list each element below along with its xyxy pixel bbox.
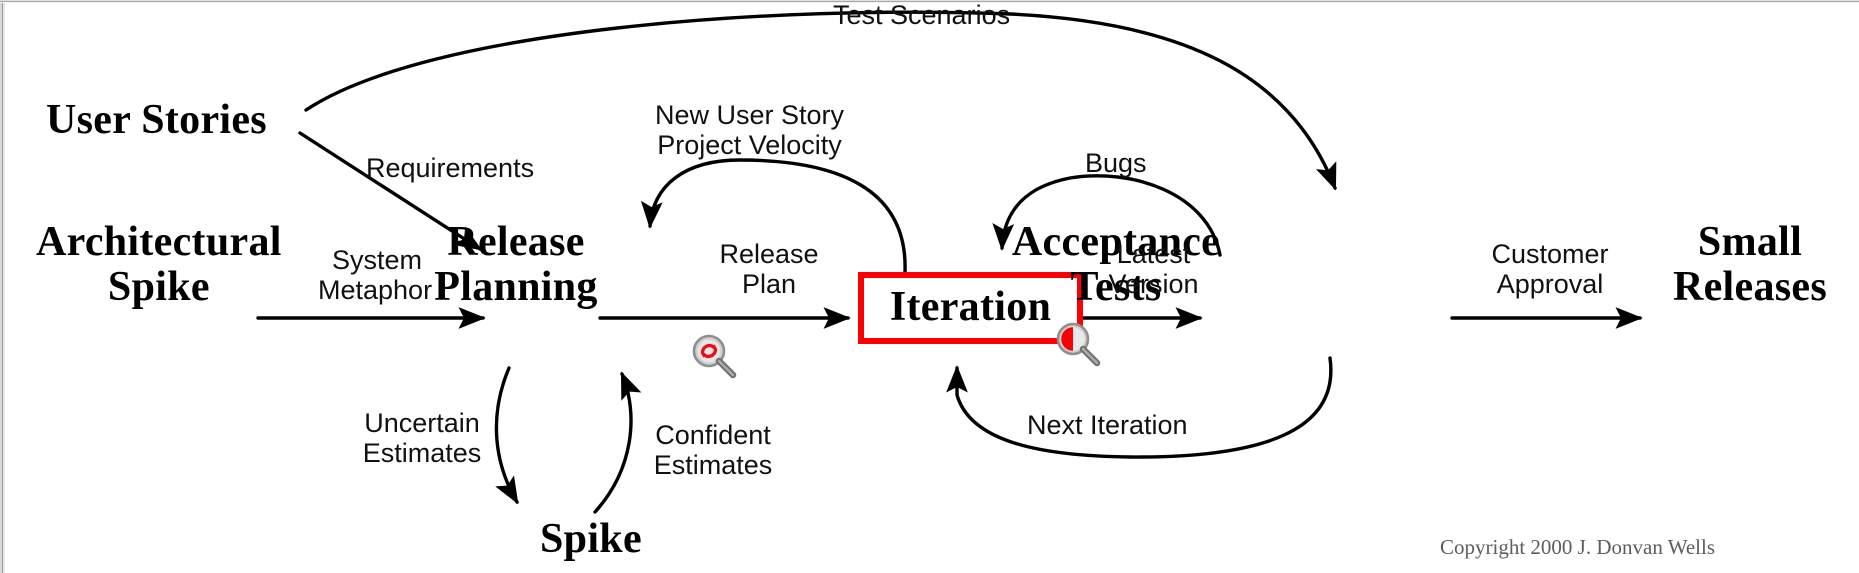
- edge-next-iteration-path: [957, 358, 1331, 457]
- node-architectural-spike: Architectural Spike: [36, 220, 282, 309]
- edge-label-customer-approval-2: Approval: [1465, 269, 1635, 299]
- edge-label-bugs: Bugs: [1085, 148, 1147, 178]
- edge-confident-estimates-path: [595, 374, 631, 512]
- edge-label-uncertain-estimates-1: Uncertain: [348, 408, 496, 438]
- edge-label-release-plan-2: Plan: [710, 269, 828, 299]
- edge-label-bugs-1: Bugs: [1085, 148, 1147, 178]
- edge-label-latest-version: Latest Version: [1092, 239, 1215, 299]
- edge-label-test-scenarios: Test Scenarios: [833, 0, 1010, 30]
- node-architectural-spike-label-1: Architectural: [36, 220, 282, 265]
- edge-label-confident-estimates-2: Estimates: [638, 450, 788, 480]
- edge-label-new-user-story: New User Story Project Velocity: [655, 100, 844, 160]
- edge-label-new-user-story-2: Project Velocity: [655, 130, 844, 160]
- edge-label-new-user-story-1: New User Story: [655, 100, 844, 130]
- edge-label-requirements: Requirements: [366, 153, 534, 183]
- edge-label-latest-version-1: Latest: [1092, 239, 1215, 269]
- node-small-releases-label-2: Releases: [1655, 265, 1845, 310]
- edge-label-customer-approval: Customer Approval: [1465, 239, 1635, 299]
- edge-label-next-iteration: Next Iteration: [1027, 410, 1188, 440]
- edge-label-system-metaphor-1: System: [318, 245, 432, 275]
- edge-label-latest-version-2: Version: [1092, 269, 1215, 299]
- edge-label-confident-estimates-1: Confident: [638, 420, 788, 450]
- xp-flow-diagram: User Stories Architectural Spike Release…: [0, 0, 1859, 573]
- edge-label-requirements-1: Requirements: [366, 153, 534, 183]
- node-user-stories: User Stories: [46, 98, 267, 143]
- edge-label-customer-approval-1: Customer: [1465, 239, 1635, 269]
- edge-label-confident-estimates: Confident Estimates: [638, 420, 788, 480]
- node-small-releases-label-1: Small: [1655, 220, 1845, 265]
- edge-uncertain-estimates-path: [496, 368, 517, 502]
- edge-label-release-plan-1: Release: [710, 239, 828, 269]
- node-spike: Spike: [540, 517, 642, 562]
- edge-label-system-metaphor-2: Metaphor: [318, 275, 432, 305]
- node-architectural-spike-label-2: Spike: [36, 265, 282, 310]
- edge-label-release-plan: Release Plan: [710, 239, 828, 299]
- node-release-planning-label-1: Release: [430, 220, 602, 265]
- copyright-notice: Copyright 2000 J. Donvan Wells: [1440, 535, 1715, 560]
- node-spike-label: Spike: [540, 516, 642, 562]
- edge-label-uncertain-estimates: Uncertain Estimates: [348, 408, 496, 468]
- edge-label-next-iteration-1: Next Iteration: [1027, 410, 1188, 440]
- edge-label-test-scenarios-1: Test Scenarios: [833, 0, 1010, 30]
- node-small-releases: Small Releases: [1655, 220, 1845, 309]
- edge-label-uncertain-estimates-2: Estimates: [348, 438, 496, 468]
- node-user-stories-label: User Stories: [46, 97, 267, 143]
- node-release-planning: Release Planning: [430, 220, 602, 309]
- node-release-planning-label-2: Planning: [430, 265, 602, 310]
- edge-label-system-metaphor: System Metaphor: [318, 245, 432, 305]
